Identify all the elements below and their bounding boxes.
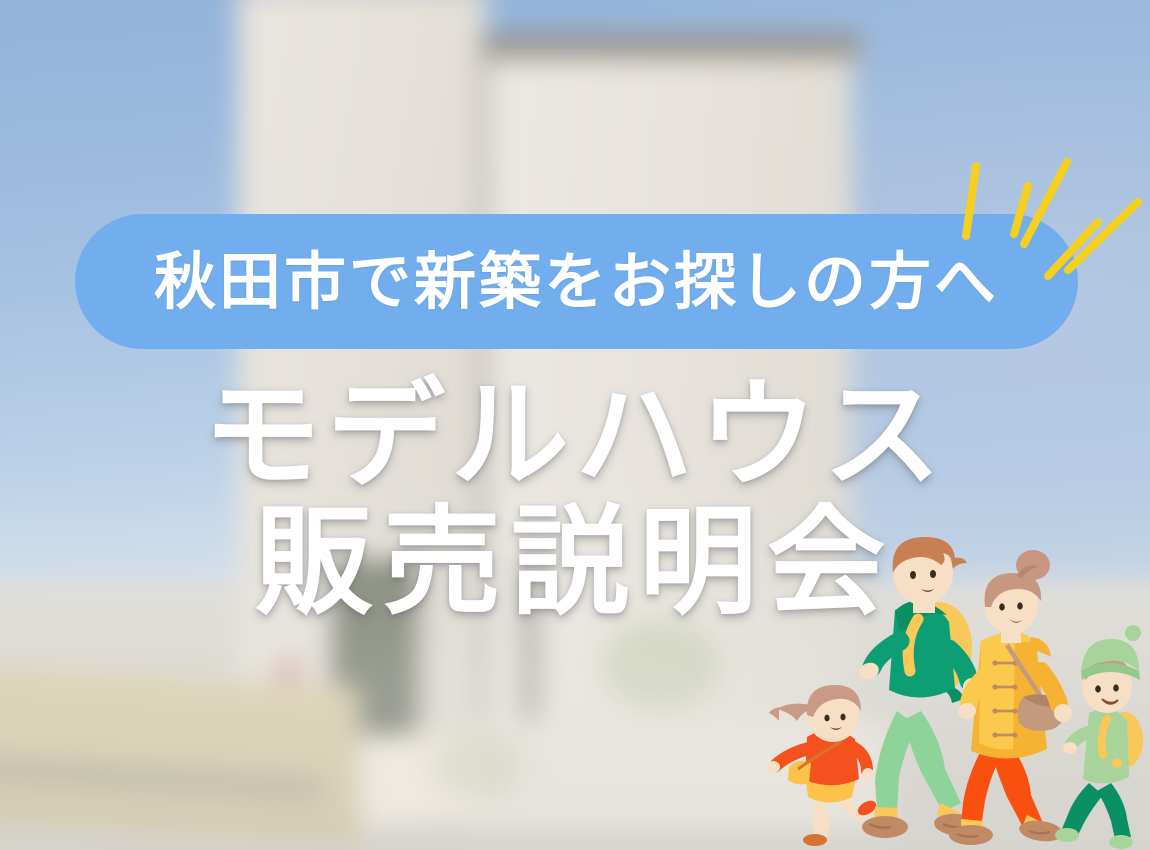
subtitle-banner-text: 秋田市で新築をお探しの方へ	[154, 251, 999, 313]
promo-poster: 秋田市で新築をお探しの方へ モデルハウス 販売説明会	[0, 0, 1150, 850]
subtitle-banner: 秋田市で新築をお探しの方へ	[75, 214, 1078, 349]
background-photo	[0, 0, 1150, 850]
bottom-haze	[0, 0, 1150, 850]
